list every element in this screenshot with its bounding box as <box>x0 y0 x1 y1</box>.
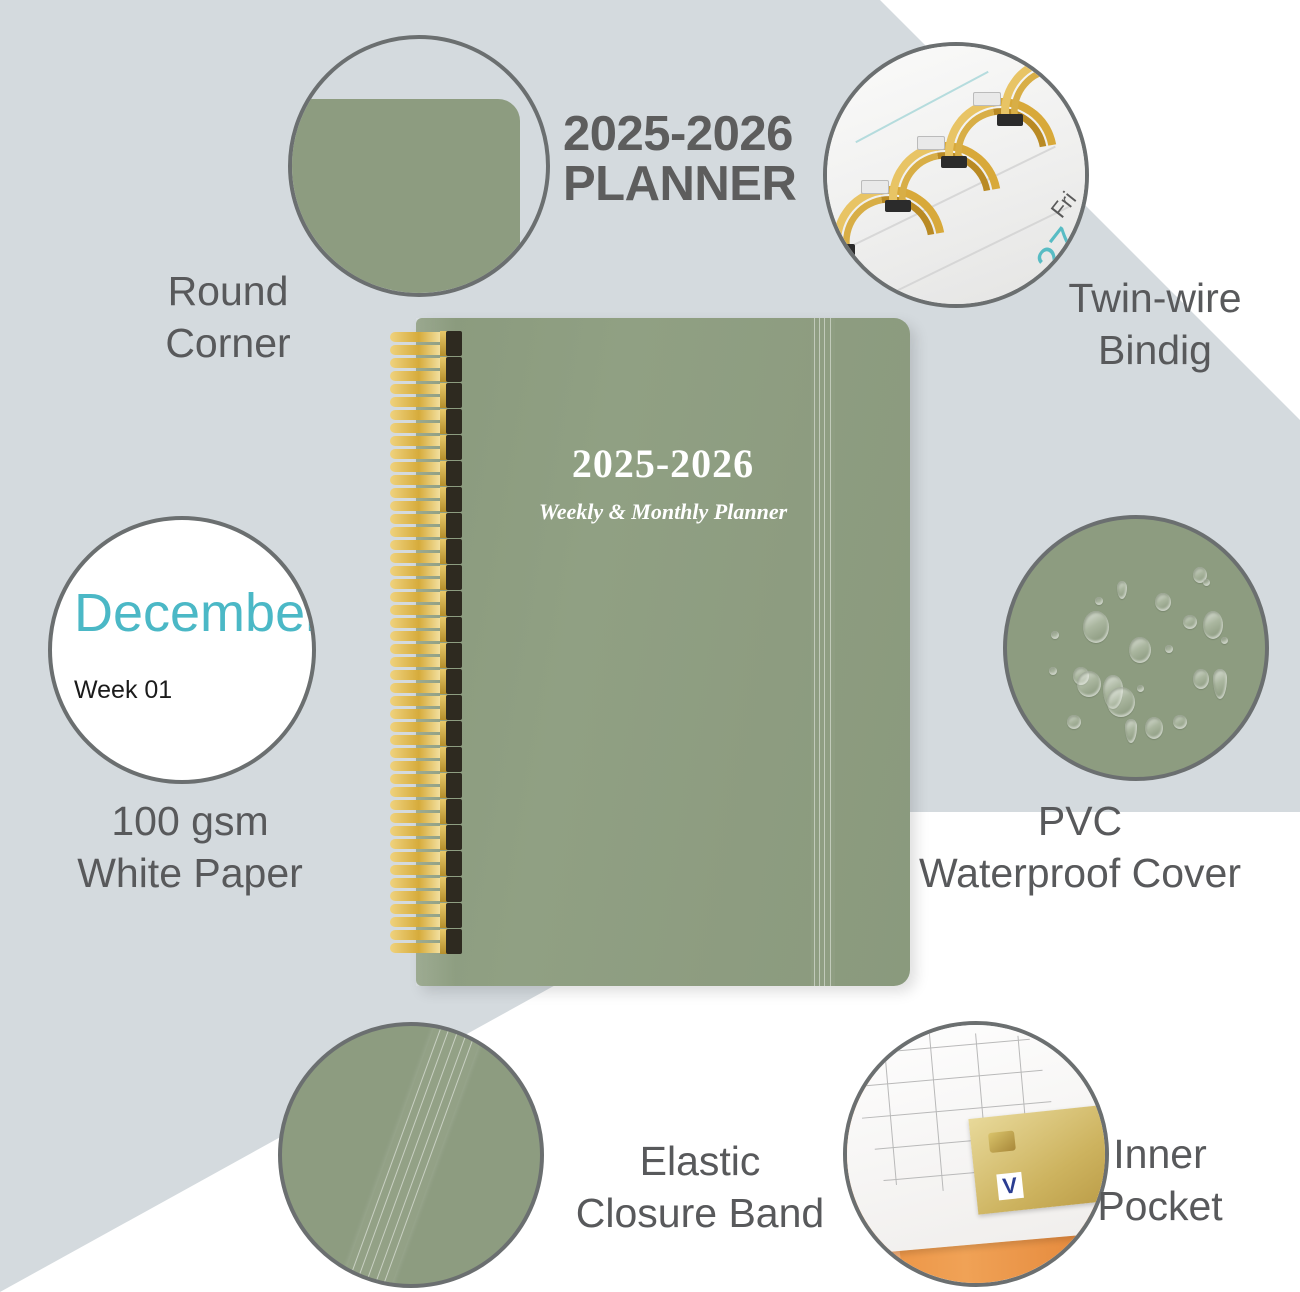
spiral-coil <box>390 436 462 462</box>
water-droplet <box>1221 637 1228 644</box>
water-droplet <box>1155 593 1171 611</box>
water-droplet <box>1077 671 1101 697</box>
elastic-band-strip <box>329 1022 494 1288</box>
water-droplet <box>1203 611 1223 639</box>
spiral-coil <box>390 904 462 930</box>
feature-image-elastic-closure <box>278 1022 544 1288</box>
spiral-coil <box>390 488 462 514</box>
spiral-coil <box>390 410 462 436</box>
cover-elastic-band <box>811 318 835 986</box>
sample-month-heading: December <box>74 582 316 644</box>
water-droplet <box>1203 579 1210 586</box>
spiral-coil <box>390 722 462 748</box>
feature-label-twin-wire: Twin-wire Bindig <box>1005 272 1300 377</box>
water-droplet <box>1095 597 1103 605</box>
feature-image-pvc-cover <box>1003 515 1269 781</box>
feature-label-pvc-cover: PVC Waterproof Cover <box>870 795 1290 900</box>
spiral-coil <box>390 618 462 644</box>
water-droplet <box>1165 645 1173 653</box>
water-droplet <box>1049 667 1057 675</box>
water-droplet <box>1067 715 1081 729</box>
feature-label-white-paper: 100 gsm White Paper <box>30 795 350 900</box>
spiral-coil <box>390 878 462 904</box>
water-droplet <box>1183 615 1197 629</box>
card-brand-logo: V <box>996 1172 1023 1200</box>
wire-loop-icon <box>1001 56 1089 152</box>
feature-label-round-corner: Round Corner <box>68 265 388 370</box>
spiral-coil <box>390 774 462 800</box>
spiral-coil <box>390 644 462 670</box>
water-droplet <box>1129 637 1151 663</box>
water-droplet <box>1137 685 1144 692</box>
water-droplet <box>1107 687 1135 717</box>
water-droplet <box>1117 581 1127 599</box>
spiral-coil <box>390 800 462 826</box>
spiral-coil <box>390 540 462 566</box>
feature-image-white-paper: December Week 01 <box>48 516 316 784</box>
water-droplet <box>1213 669 1227 699</box>
cover-years: 2025-2026 <box>416 440 910 487</box>
water-droplet <box>1125 719 1137 743</box>
spiral-coil <box>390 852 462 878</box>
page-title-years: 2025-2026 <box>563 107 793 161</box>
water-droplet <box>1145 717 1163 739</box>
spiral-coil <box>390 332 462 358</box>
feature-label-elastic-closure: Elastic Closure Band <box>520 1135 880 1240</box>
spiral-coil <box>390 462 462 488</box>
water-droplet <box>1193 669 1209 689</box>
water-droplet <box>1173 715 1187 729</box>
spiral-coil <box>390 592 462 618</box>
cover-subtitle: Weekly & Monthly Planner <box>416 499 910 525</box>
water-droplet <box>1051 631 1059 639</box>
spiral-coil <box>390 670 462 696</box>
spiral-coil <box>390 384 462 410</box>
product-planner: 2025-2026 Weekly & Monthly Planner <box>390 318 910 986</box>
cover-title-block: 2025-2026 Weekly & Monthly Planner <box>416 440 910 525</box>
planner-front-cover: 2025-2026 Weekly & Monthly Planner <box>416 318 910 986</box>
spiral-coil <box>390 514 462 540</box>
spiral-coil <box>390 358 462 384</box>
water-droplet <box>1083 611 1109 643</box>
spiral-coil <box>390 566 462 592</box>
spiral-coil <box>390 826 462 852</box>
feature-image-twin-wire: Fri 27 <box>823 42 1089 308</box>
card-chip-icon <box>988 1130 1016 1153</box>
spiral-coil <box>390 930 462 956</box>
twin-wire-spiral-binding <box>390 332 470 972</box>
spiral-coil <box>390 696 462 722</box>
spiral-coil <box>390 748 462 774</box>
feature-label-inner-pocket: Inner Pocket <box>1040 1128 1280 1233</box>
feature-image-round-corner <box>288 35 550 297</box>
sample-week-label: Week 01 <box>74 676 172 705</box>
